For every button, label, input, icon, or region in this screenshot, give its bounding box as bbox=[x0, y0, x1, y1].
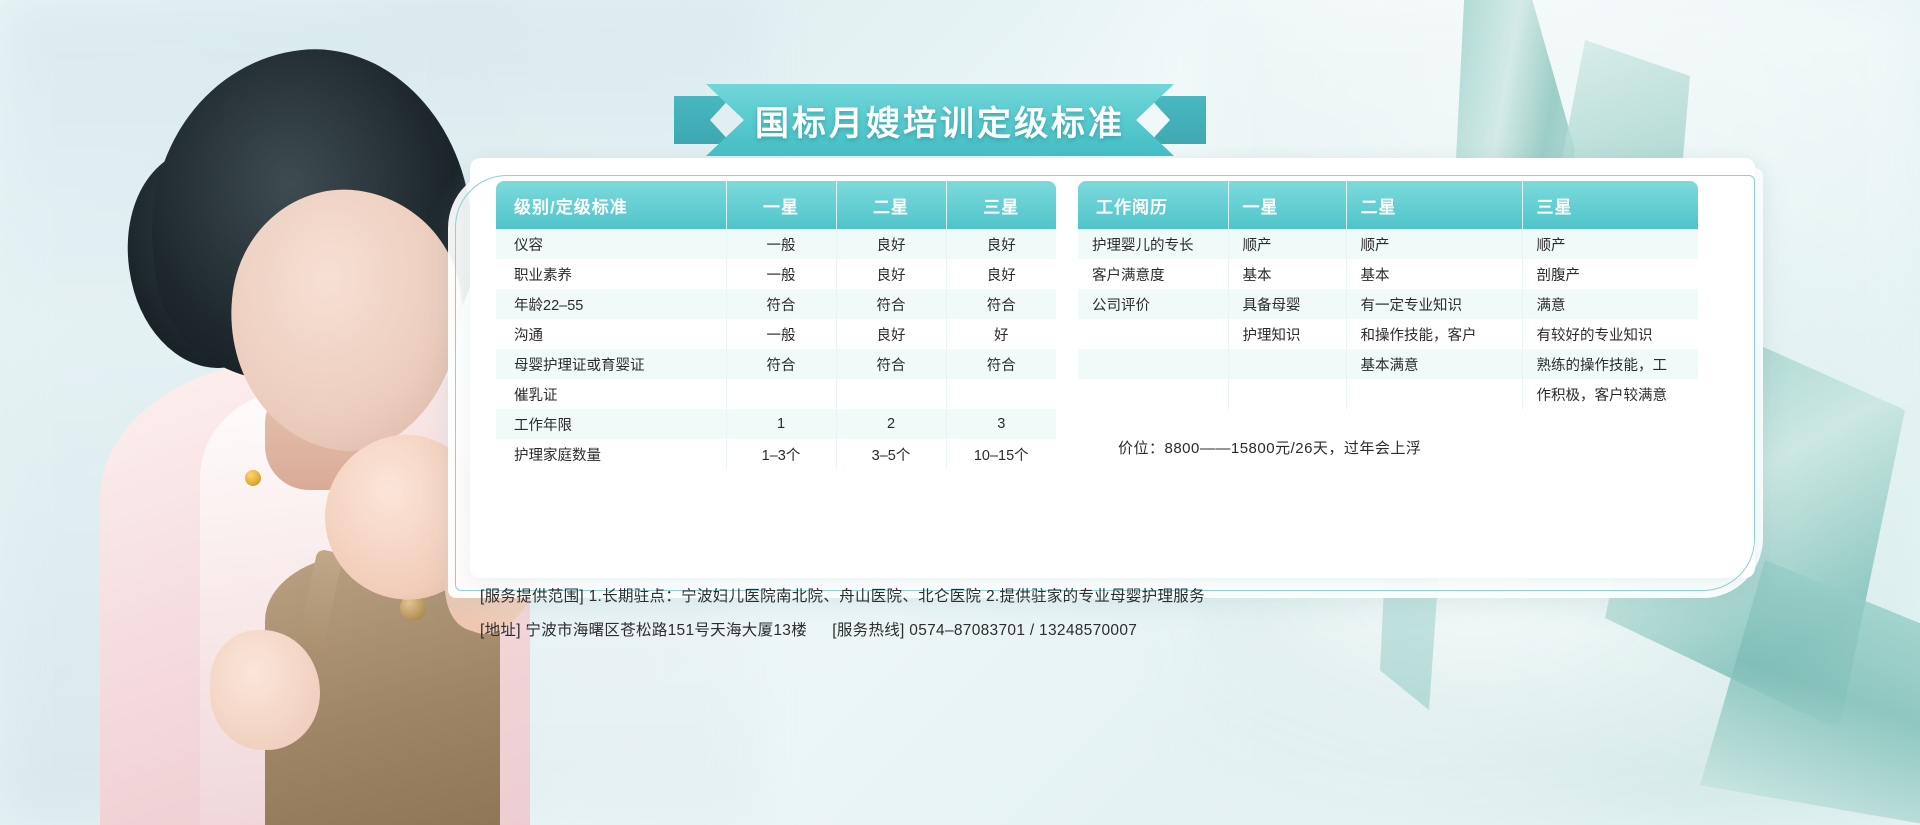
cell-two-star: 良好 bbox=[836, 259, 946, 289]
banner-title-text: 国标月嫂培训定级标准 bbox=[706, 84, 1174, 156]
table-row: 基本满意 熟练的操作技能，工 bbox=[1078, 349, 1698, 379]
row-label: 年龄22–55 bbox=[496, 289, 726, 319]
footnote-service-scope: [服务提供范围] 1.长期驻点：宁波妇儿医院南北院、舟山医院、北仑医院 2.提供… bbox=[480, 580, 1720, 614]
work-experience-table-head: 工作阅历 一星 二星 三星 bbox=[1078, 181, 1698, 229]
table-row: 客户满意度 基本 基本 剖腹产 bbox=[1078, 259, 1698, 289]
cell-two-star: 基本 bbox=[1346, 259, 1522, 289]
poster-canvas: 国标月嫂培训定级标准 级别/定级标准 一星 二星 三星 仪容 一般 良好 良好 bbox=[0, 0, 1920, 825]
cell-two-star: 基本满意 bbox=[1346, 349, 1522, 379]
row-label bbox=[1078, 349, 1228, 379]
work-experience-table-body: 护理婴儿的专长 顺产 顺产 顺产 客户满意度 基本 基本 剖腹产 公司评价 具备… bbox=[1078, 229, 1698, 409]
footnote-address: [地址] 宁波市海曙区苍松路151号天海大厦13楼 bbox=[480, 622, 807, 639]
cell-one-star: 一般 bbox=[726, 229, 836, 259]
cell-one-star bbox=[726, 379, 836, 409]
table-header-row: 级别/定级标准 一星 二星 三星 bbox=[496, 181, 1056, 229]
row-label bbox=[1078, 379, 1228, 409]
cell-one-star: 具备母婴 bbox=[1228, 289, 1346, 319]
cell-two-star: 2 bbox=[836, 409, 946, 439]
table-row: 工作年限 1 2 3 bbox=[496, 409, 1056, 439]
cell-two-star: 符合 bbox=[836, 349, 946, 379]
row-label: 客户满意度 bbox=[1078, 259, 1228, 289]
cell-one-star: 一般 bbox=[726, 259, 836, 289]
row-label: 护理家庭数量 bbox=[496, 439, 726, 469]
caregiver-badge-pin bbox=[245, 470, 261, 486]
table-header-row: 工作阅历 一星 二星 三星 bbox=[1078, 181, 1698, 229]
table-row: 母婴护理证或育婴证 符合 符合 符合 bbox=[496, 349, 1056, 379]
row-label: 工作年限 bbox=[496, 409, 726, 439]
cell-one-star: 符合 bbox=[726, 289, 836, 319]
row-label: 仪容 bbox=[496, 229, 726, 259]
cell-two-star: 3–5个 bbox=[836, 439, 946, 469]
cell-three-star: 熟练的操作技能，工 bbox=[1522, 349, 1698, 379]
cell-one-star bbox=[1228, 379, 1346, 409]
cell-one-star: 一般 bbox=[726, 319, 836, 349]
table-row: 职业素养 一般 良好 良好 bbox=[496, 259, 1056, 289]
col-header-one-star: 一星 bbox=[726, 181, 836, 229]
table-row: 护理家庭数量 1–3个 3–5个 10–15个 bbox=[496, 439, 1056, 469]
col-header-experience: 工作阅历 bbox=[1078, 181, 1228, 229]
cell-one-star: 1–3个 bbox=[726, 439, 836, 469]
cell-three-star: 满意 bbox=[1522, 289, 1698, 319]
table-row: 作积极，客户较满意 bbox=[1078, 379, 1698, 409]
cell-one-star bbox=[1228, 349, 1346, 379]
cell-two-star: 和操作技能，客户 bbox=[1346, 319, 1522, 349]
col-header-two-star: 二星 bbox=[836, 181, 946, 229]
cell-two-star bbox=[1346, 379, 1522, 409]
cell-two-star bbox=[836, 379, 946, 409]
cell-three-star: 10–15个 bbox=[946, 439, 1056, 469]
work-experience-table: 工作阅历 一星 二星 三星 护理婴儿的专长 顺产 顺产 顺产 客户满意度 基本 … bbox=[1078, 181, 1698, 409]
col-header-three-star: 三星 bbox=[1522, 181, 1698, 229]
tables-container: 级别/定级标准 一星 二星 三星 仪容 一般 良好 良好 职业素养 一般 良好 bbox=[496, 181, 1726, 469]
table-row: 催乳证 bbox=[496, 379, 1056, 409]
cell-three-star: 良好 bbox=[946, 259, 1056, 289]
footnote-contact-line: [地址] 宁波市海曙区苍松路151号天海大厦13楼 [服务热线] 0574–87… bbox=[480, 614, 1720, 648]
row-label: 护理婴儿的专长 bbox=[1078, 229, 1228, 259]
table-row: 年龄22–55 符合 符合 符合 bbox=[496, 289, 1056, 319]
grading-standard-table: 级别/定级标准 一星 二星 三星 仪容 一般 良好 良好 职业素养 一般 良好 bbox=[496, 181, 1056, 469]
grading-standard-table-body: 仪容 一般 良好 良好 职业素养 一般 良好 良好 年龄22–55 符合 符合 … bbox=[496, 229, 1056, 469]
row-label: 公司评价 bbox=[1078, 289, 1228, 319]
table-row: 护理婴儿的专长 顺产 顺产 顺产 bbox=[1078, 229, 1698, 259]
col-header-criteria: 级别/定级标准 bbox=[496, 181, 726, 229]
row-label: 沟通 bbox=[496, 319, 726, 349]
title-banner: 国标月嫂培训定级标准 bbox=[706, 84, 1174, 156]
cell-three-star: 良好 bbox=[946, 229, 1056, 259]
cell-three-star: 作积极，客户较满意 bbox=[1522, 379, 1698, 409]
cell-three-star: 顺产 bbox=[1522, 229, 1698, 259]
cell-one-star: 符合 bbox=[726, 349, 836, 379]
row-label bbox=[1078, 319, 1228, 349]
grading-standard-table-head: 级别/定级标准 一星 二星 三星 bbox=[496, 181, 1056, 229]
price-note: 价位：8800——15800元/26天，过年会上浮 bbox=[1118, 437, 1716, 458]
cell-three-star bbox=[946, 379, 1056, 409]
row-label: 职业素养 bbox=[496, 259, 726, 289]
footnote-hotline: [服务热线] 0574–87083701 / 13248570007 bbox=[832, 622, 1137, 639]
col-header-two-star: 二星 bbox=[1346, 181, 1522, 229]
footnotes: [服务提供范围] 1.长期驻点：宁波妇儿医院南北院、舟山医院、北仑医院 2.提供… bbox=[480, 580, 1720, 648]
table-row: 仪容 一般 良好 良好 bbox=[496, 229, 1056, 259]
cell-three-star: 3 bbox=[946, 409, 1056, 439]
cell-two-star: 顺产 bbox=[1346, 229, 1522, 259]
cell-two-star: 有一定专业知识 bbox=[1346, 289, 1522, 319]
cell-one-star: 1 bbox=[726, 409, 836, 439]
row-label: 催乳证 bbox=[496, 379, 726, 409]
cell-two-star: 符合 bbox=[836, 289, 946, 319]
cell-three-star: 有较好的专业知识 bbox=[1522, 319, 1698, 349]
cell-two-star: 良好 bbox=[836, 229, 946, 259]
col-header-one-star: 一星 bbox=[1228, 181, 1346, 229]
cell-three-star: 符合 bbox=[946, 289, 1056, 319]
col-header-three-star: 三星 bbox=[946, 181, 1056, 229]
cell-two-star: 良好 bbox=[836, 319, 946, 349]
cell-three-star: 剖腹产 bbox=[1522, 259, 1698, 289]
cell-one-star: 护理知识 bbox=[1228, 319, 1346, 349]
table-row: 公司评价 具备母婴 有一定专业知识 满意 bbox=[1078, 289, 1698, 319]
table-row: 沟通 一般 良好 好 bbox=[496, 319, 1056, 349]
table-row: 护理知识 和操作技能，客户 有较好的专业知识 bbox=[1078, 319, 1698, 349]
cell-one-star: 顺产 bbox=[1228, 229, 1346, 259]
cell-three-star: 好 bbox=[946, 319, 1056, 349]
cell-one-star: 基本 bbox=[1228, 259, 1346, 289]
row-label: 母婴护理证或育婴证 bbox=[496, 349, 726, 379]
cell-three-star: 符合 bbox=[946, 349, 1056, 379]
caregiver-hand bbox=[210, 630, 320, 750]
